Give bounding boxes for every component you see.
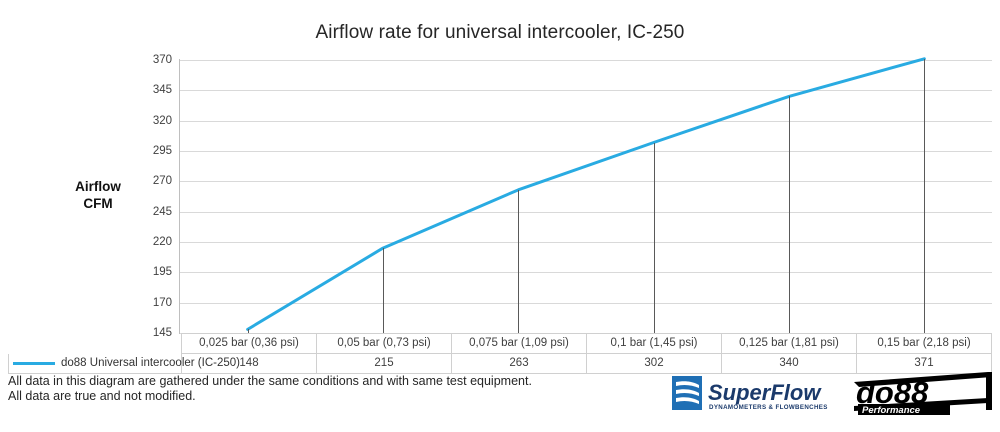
y-tick-label-345: 345 (130, 84, 172, 96)
y-tick-label-295: 295 (130, 145, 172, 157)
y-tick-label-195: 195 (130, 266, 172, 278)
y-tick-label-270: 270 (130, 175, 172, 187)
do88-tagline-group: Performance (858, 404, 950, 416)
x-category-label-1: 0,05 bar (0,73 psi) (317, 334, 452, 354)
footer-disclaimer: All data in this diagram are gathered un… (8, 374, 532, 404)
superflow-mark-icon (672, 376, 702, 410)
legend-entry-do88[interactable]: do88 Universal intercooler (IC-250) (9, 354, 182, 374)
dropline-2 (518, 190, 519, 333)
x-category-label-4: 0,125 bar (1,81 psi) (722, 334, 857, 354)
y-tick-label-370: 370 (130, 54, 172, 66)
legend-line-swatch-icon (13, 362, 55, 365)
superflow-tagline: DYNAMOMETERS & FLOWBENCHES (709, 404, 828, 411)
do88-logo: do88 Performance (852, 366, 994, 416)
y-tick-label-245: 245 (130, 206, 172, 218)
x-category-label-5: 0,15 bar (2,18 psi) (857, 334, 992, 354)
superflow-logo: SuperFlow DYNAMOMETERS & FLOWBENCHES (668, 370, 836, 416)
dropline-5 (924, 59, 925, 333)
dropline-1 (383, 248, 384, 333)
dropline-4 (789, 96, 790, 333)
y-tick-label-220: 220 (130, 236, 172, 248)
y-axis-tick-labels: 370345320295270245220195170145 (128, 60, 172, 333)
series-line-do88 (248, 59, 925, 330)
x-category-label-2: 0,075 bar (1,09 psi) (452, 334, 587, 354)
superflow-wordmark: SuperFlow (708, 380, 822, 405)
table-corner-cell (9, 334, 182, 354)
dropline-3 (654, 143, 655, 333)
series-line-layer (180, 60, 992, 333)
x-category-label-0: 0,025 bar (0,36 psi) (182, 334, 317, 354)
footer-line-1: All data in this diagram are gathered un… (8, 374, 532, 389)
page-title: Airflow rate for universal intercooler, … (0, 22, 1000, 44)
table-row-categories: 0,025 bar (0,36 psi)0,05 bar (0,73 psi)0… (9, 334, 992, 354)
data-value-cell-1: 215 (317, 354, 452, 374)
plot-area (180, 60, 992, 333)
y-tick-label-170: 170 (130, 297, 172, 309)
footer-line-2: All data are true and not modified. (8, 389, 532, 404)
x-category-label-3: 0,1 bar (1,45 psi) (587, 334, 722, 354)
logo-row: SuperFlow DYNAMOMETERS & FLOWBENCHES do8… (660, 366, 994, 418)
data-value-cell-2: 263 (452, 354, 587, 374)
do88-tagline: Performance (862, 405, 921, 416)
legend-label: do88 Universal intercooler (IC-250) (61, 357, 240, 369)
y-tick-label-320: 320 (130, 115, 172, 127)
